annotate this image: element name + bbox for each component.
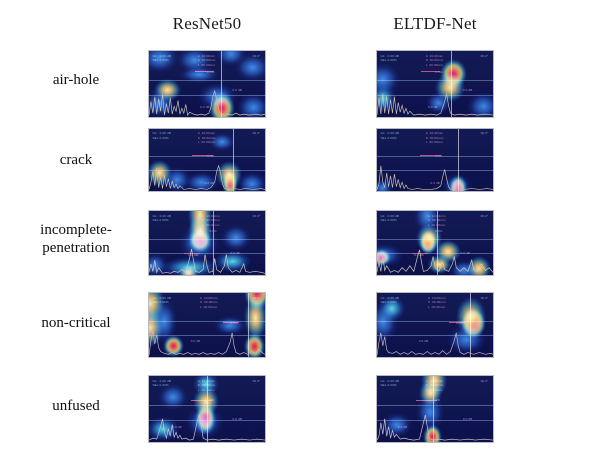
readout-mid-scale: 0.0% — [207, 398, 214, 402]
a-scan-trace — [377, 247, 493, 275]
readout-center-top: A 10.00mm S 00.00mm L 00.00mm — [428, 214, 446, 227]
gate-line-1 — [149, 239, 265, 240]
heatmap-panel-incomplete-penetration-resnet50: G1 : 0.00 dB SEL 0.00% A 10.00mm S 00.00… — [148, 210, 266, 276]
readout-mid-scale: 0.0% — [435, 154, 442, 158]
readout-center-top: A 10.00mm S 00.00mm L 00.00mm — [198, 54, 216, 67]
gate-line-1 — [377, 239, 493, 240]
readout-angle: 00.0° — [253, 296, 261, 300]
readout-angle: 00.0° — [481, 54, 489, 58]
readout-angle: 00.0° — [481, 296, 489, 300]
a-scan-trace — [149, 247, 265, 275]
readout-left-top: G1 : 0.00 dB SEL 0.00% — [152, 379, 171, 388]
heatmap-panel-air-hole-resnet50: G1 : 0.00 dB SEL 0.00% A 10.00mm S 00.00… — [148, 50, 266, 118]
readout-left-top: G1 : 0.00 dB SEL 0.00% — [380, 296, 399, 305]
readout-mid-scale: 0.0% — [435, 70, 442, 74]
a-scan-trace — [377, 329, 493, 357]
readout-angle: 00.0° — [253, 131, 261, 135]
readout-mid-scale: 0.0% — [435, 229, 442, 233]
gate-line-1 — [377, 405, 493, 406]
column-header-eltdf-net: ELTDF-Net — [376, 14, 494, 34]
readout-angle: 00.0° — [253, 379, 261, 383]
a-scan-trace — [377, 164, 493, 191]
readout-mid-scale: 0.0% — [207, 70, 214, 74]
row-label-unfused: unfused — [12, 398, 140, 416]
readout-center-top: A 10.00mm S 00.00mm L 00.00mm — [200, 296, 218, 309]
readout-mid-scale: 0.0% — [456, 321, 463, 325]
a-scan-trace — [377, 413, 493, 442]
heatmap-panel-non-critical-resnet50: G1 : 0.00 dB SEL 0.00% A 10.00mm S 00.00… — [148, 292, 266, 358]
a-scan-trace — [149, 88, 265, 117]
row-label-incomplete-penetration-line2: penetration — [12, 240, 140, 258]
row-label-crack: crack — [12, 152, 140, 170]
heatmap-panel-unfused-resnet50: G1 : 0.00 dB SEL 0.00% A 10.00mm S 00.00… — [148, 375, 266, 443]
readout-left-top: G1 : 0.00 dB SEL 0.00% — [380, 54, 399, 63]
gate-line-1 — [149, 80, 265, 81]
readout-mid-scale: 0.0% — [230, 321, 237, 325]
heatmap-panel-unfused-eltdf-net: G1 : 0.00 dB SEL 0.00% A 10.00mm S 00.00… — [376, 375, 494, 443]
readout-left-top: G1 : 0.00 dB SEL 0.00% — [152, 214, 171, 223]
readout-angle: 00.0° — [253, 54, 261, 58]
readout-angle: 00.0° — [481, 131, 489, 135]
row-label-incomplete-penetration-line1: incomplete- — [12, 222, 140, 240]
readout-angle: 00.0° — [481, 379, 489, 383]
heatmap-panel-crack-eltdf-net: G1 : 0.00 dB SEL 0.00% A 10.00mm S 00.00… — [376, 128, 494, 192]
readout-left-top: G1 : 0.00 dB SEL 0.00% — [380, 214, 399, 223]
heatmap-panel-incomplete-penetration-eltdf-net: G1 : 0.00 dB SEL 0.00% A 10.00mm S 00.00… — [376, 210, 494, 276]
gate-line-1 — [377, 321, 493, 322]
readout-center-top: A 10.00mm S 00.00mm L 00.00mm — [426, 379, 444, 392]
readout-left-top: G1 : 0.00 dB SEL 0.00% — [380, 131, 399, 140]
a-scan-trace — [149, 164, 265, 191]
readout-angle: 00.0° — [253, 214, 261, 218]
readout-center-top: A 10.00mm S 00.00mm L 00.00mm — [428, 296, 446, 309]
readout-center-top: A 10.00mm S 00.00mm L 00.00mm — [198, 379, 216, 392]
gate-line-1 — [377, 80, 493, 81]
readout-left-top: G1 : 0.00 dB SEL 0.00% — [152, 296, 171, 305]
heatmap-panel-air-hole-eltdf-net: G1 : 0.00 dB SEL 0.00% A 10.00mm S 00.00… — [376, 50, 494, 118]
readout-mid-scale: 0.0% — [207, 154, 214, 158]
heatmap-panel-non-critical-eltdf-net: G1 : 0.00 dB SEL 0.00% A 10.00mm S 00.00… — [376, 292, 494, 358]
readout-center-top: A 10.00mm S 00.00mm L 00.00mm — [202, 214, 220, 227]
readout-left-top: G1 : 0.00 dB SEL 0.00% — [380, 379, 399, 388]
row-label-incomplete-penetration: incomplete- penetration — [12, 222, 140, 257]
readout-mid-scale: 0.0% — [209, 229, 216, 233]
readout-mid-scale: 0.0% — [433, 398, 440, 402]
readout-angle: 00.0° — [481, 214, 489, 218]
readout-center-top: A 10.00mm S 00.00mm L 00.00mm — [426, 54, 444, 67]
column-header-resnet50: ResNet50 — [148, 14, 266, 34]
readout-center-top: A 10.00mm S 00.00mm L 00.00mm — [426, 131, 444, 144]
a-scan-trace — [149, 329, 265, 357]
readout-center-top: A 10.00mm S 00.00mm L 00.00mm — [198, 131, 216, 144]
row-label-non-critical: non-critical — [12, 315, 140, 333]
a-scan-trace — [149, 413, 265, 442]
heatmap-panel-crack-resnet50: G1 : 0.00 dB SEL 0.00% A 10.00mm S 00.00… — [148, 128, 266, 192]
readout-left-top: G1 : 0.00 dB SEL 0.00% — [152, 54, 171, 63]
row-label-air-hole: air-hole — [12, 72, 140, 90]
readout-left-top: G1 : 0.00 dB SEL 0.00% — [152, 131, 171, 140]
figure-root: ResNet50 ELTDF-Net air-hole crack incomp… — [0, 0, 600, 459]
a-scan-trace — [377, 88, 493, 117]
